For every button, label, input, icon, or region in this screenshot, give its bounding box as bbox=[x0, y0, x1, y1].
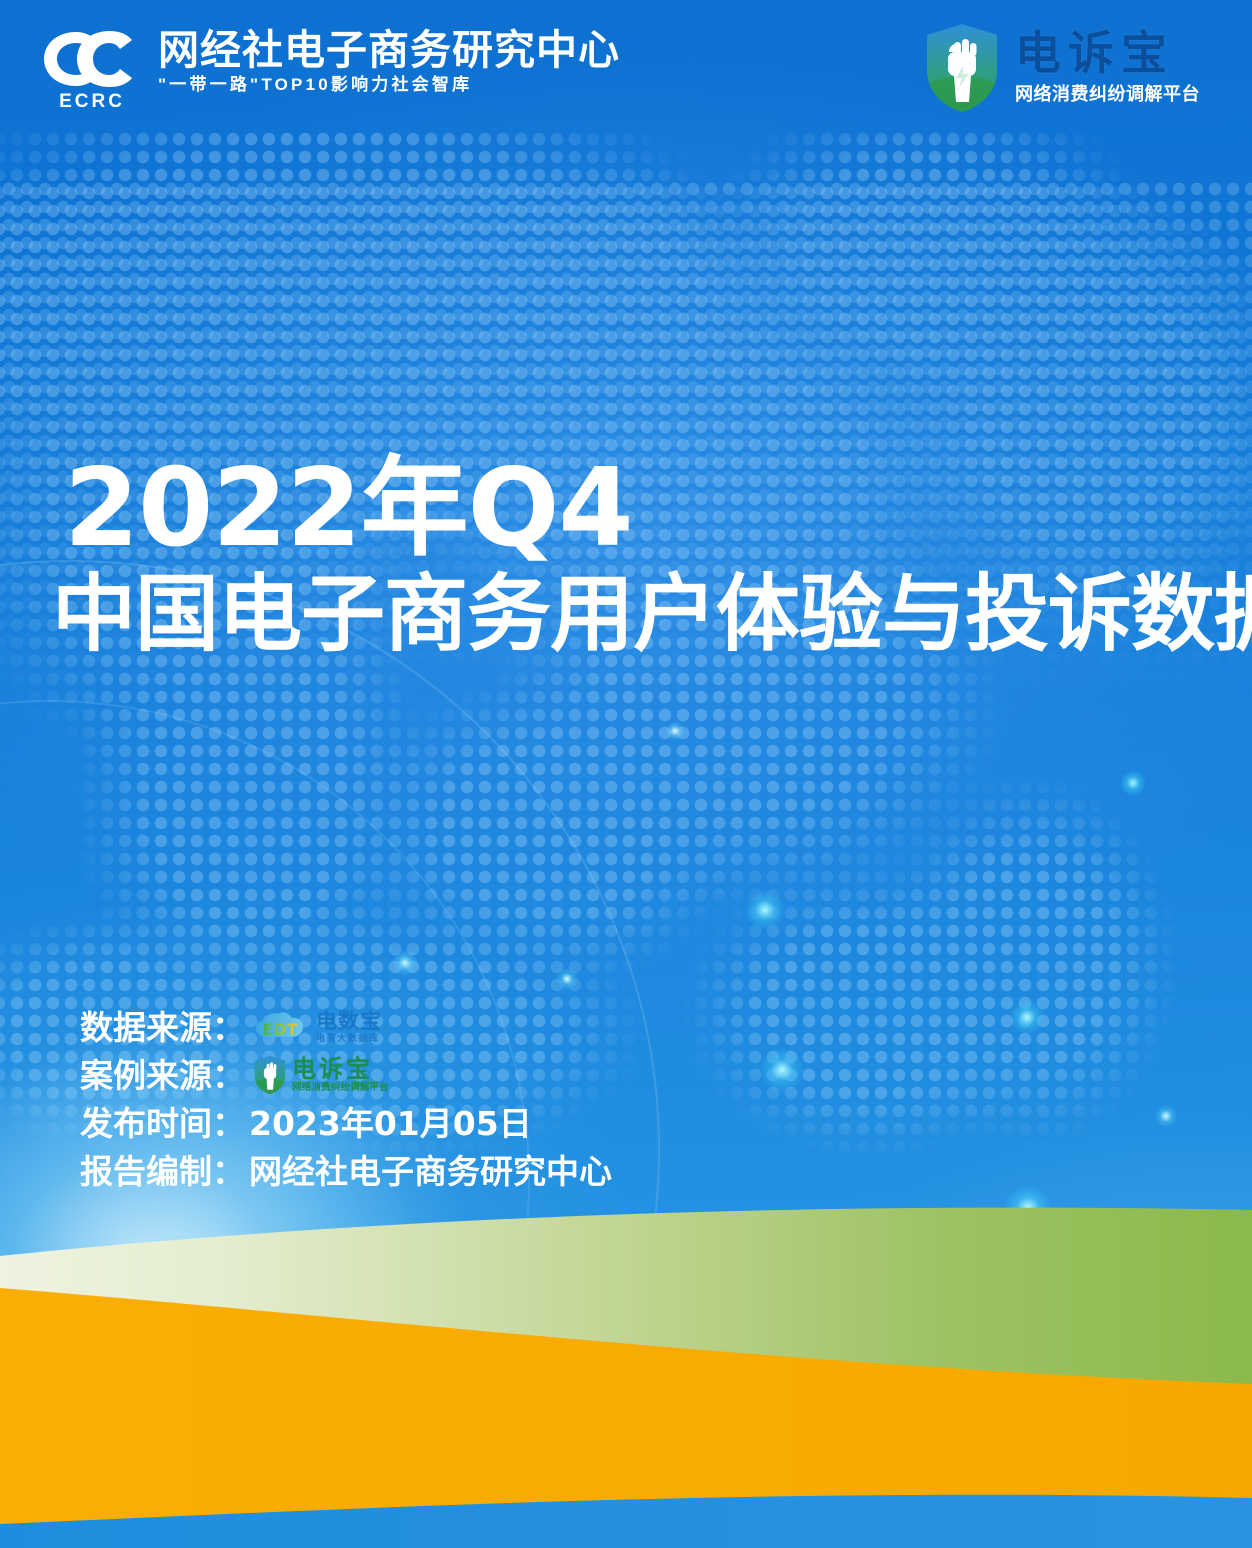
report-metadata: 数据来源： bbox=[80, 1003, 612, 1195]
ecrc-logo-mark: ECRC bbox=[40, 28, 144, 111]
dsb-brand-name-small: 电诉宝 bbox=[292, 1057, 389, 1081]
metadata-value-publish-date: 2023年01月05日 bbox=[249, 1107, 532, 1140]
dsb-brand-name: 电诉宝 bbox=[1015, 30, 1174, 76]
bottom-decorative-ribbons bbox=[0, 1188, 1252, 1548]
shield-fist-icon-small bbox=[253, 1055, 287, 1095]
dsb-tagline: 网络消费纠纷调解平台 bbox=[1015, 80, 1200, 106]
ecrc-tagline: "一带一路"TOP10影响力社会智库 bbox=[158, 75, 620, 95]
cloud-edt-icon: EDT bbox=[253, 1010, 311, 1044]
report-cover-page: ECRC 网经社电子商务研究中心 "一带一路"TOP10影响力社会智库 bbox=[0, 0, 1252, 1548]
metadata-row-publish-date: 发布时间： 2023年01月05日 bbox=[80, 1099, 612, 1147]
dsb-logo-small: 电诉宝 网络消费纠纷调解平台 bbox=[253, 1055, 389, 1095]
metadata-label: 数据来源： bbox=[80, 1011, 245, 1044]
edt-logo-text: 电数宝 电商大数据库 bbox=[316, 1011, 382, 1043]
shield-fist-icon bbox=[923, 22, 1001, 114]
report-main-title: 中国电子商务用户体验与投诉数据报告 bbox=[52, 572, 1252, 656]
metadata-row-publisher: 报告编制： 网经社电子商务研究中心 bbox=[80, 1147, 612, 1195]
metadata-label: 发布时间： bbox=[80, 1107, 245, 1140]
ecrc-logo-wordmark: ECRC bbox=[59, 92, 125, 111]
metadata-label: 案例来源： bbox=[80, 1059, 245, 1092]
edt-logo: EDT 电数宝 电商大数据库 bbox=[253, 1010, 382, 1044]
dsb-tagline-small: 网络消费纠纷调解平台 bbox=[292, 1083, 389, 1093]
edt-brand-name: 电数宝 bbox=[316, 1011, 382, 1032]
metadata-row-data-source: 数据来源： bbox=[80, 1003, 612, 1051]
ecrc-logo-text: 网经社电子商务研究中心 "一带一路"TOP10影响力社会智库 bbox=[158, 28, 620, 95]
metadata-label: 报告编制： bbox=[80, 1155, 245, 1188]
page-header: ECRC 网经社电子商务研究中心 "一带一路"TOP10影响力社会智库 bbox=[0, 0, 1252, 132]
ec-monogram-icon bbox=[40, 28, 144, 90]
dsb-logo-small-text: 电诉宝 网络消费纠纷调解平台 bbox=[292, 1057, 389, 1093]
svg-text:EDT: EDT bbox=[262, 1020, 297, 1039]
ecrc-logo: ECRC 网经社电子商务研究中心 "一带一路"TOP10影响力社会智库 bbox=[40, 28, 620, 111]
edt-tagline: 电商大数据库 bbox=[316, 1034, 382, 1043]
metadata-value-publisher: 网经社电子商务研究中心 bbox=[249, 1155, 612, 1188]
ecrc-org-name: 网经社电子商务研究中心 bbox=[158, 30, 620, 72]
dsb-logo: 电诉宝 网络消费纠纷调解平台 bbox=[923, 22, 1200, 114]
dsb-logo-text: 电诉宝 网络消费纠纷调解平台 bbox=[1015, 30, 1200, 106]
report-period-title: 2022年Q4 bbox=[64, 455, 633, 563]
metadata-row-case-source: 案例来源： bbox=[80, 1051, 612, 1099]
